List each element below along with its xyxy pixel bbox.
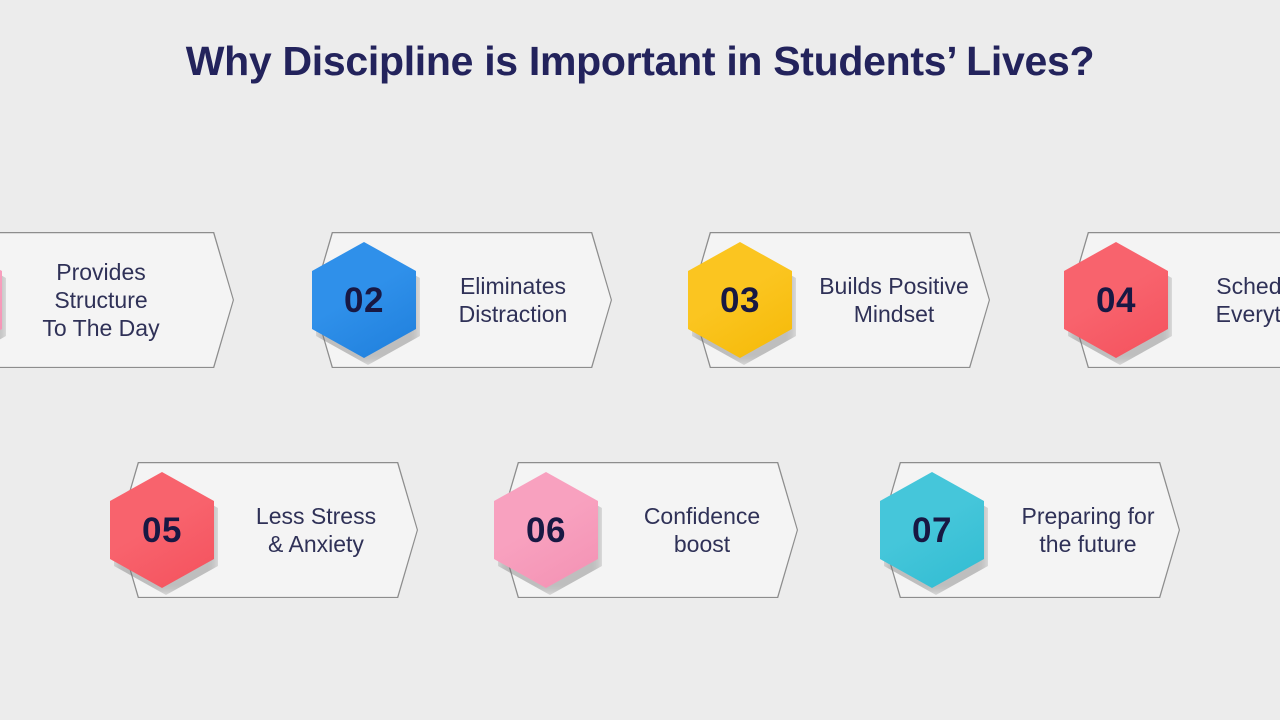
step-label: Schedules Everything [1170, 272, 1280, 328]
step-number: 06 [526, 513, 566, 548]
step-card-2[interactable]: 02 Eliminates Distraction [312, 232, 612, 368]
step-number: 05 [142, 513, 182, 548]
step-card-4[interactable]: 04 Schedules Everything [1068, 232, 1280, 368]
step-number: 04 [1096, 283, 1136, 318]
step-card-3[interactable]: 03 Builds Positive Mindset [690, 232, 990, 368]
step-card-7[interactable]: 07 Preparing for the future [880, 462, 1180, 598]
step-number: 07 [912, 513, 952, 548]
step-badge-5: 05 [110, 472, 214, 588]
page-title: Why Discipline is Important in Students’… [0, 38, 1280, 85]
step-badge-4: 04 [1064, 242, 1168, 358]
step-label: Builds Positive Mindset [794, 272, 994, 328]
step-number: 03 [720, 283, 760, 318]
step-card-5[interactable]: 05 Less Stress & Anxiety [118, 462, 418, 598]
step-label: Provides Structure To The Day [6, 258, 196, 342]
step-label: Eliminates Distraction [418, 272, 608, 328]
step-card-6[interactable]: 06 Confidence boost [498, 462, 798, 598]
step-badge-6: 06 [494, 472, 598, 588]
step-badge-7: 07 [880, 472, 984, 588]
step-badge-1 [0, 242, 2, 358]
step-card-1[interactable]: Provides Structure To The Day [0, 232, 234, 368]
step-number: 02 [344, 283, 384, 318]
hexagon-icon [0, 242, 2, 358]
step-label: Preparing for the future [988, 502, 1188, 558]
infographic-slide: Why Discipline is Important in Students’… [0, 0, 1280, 720]
step-label: Confidence boost [602, 502, 802, 558]
step-badge-3: 03 [688, 242, 792, 358]
step-label: Less Stress & Anxiety [216, 502, 416, 558]
step-badge-2: 02 [312, 242, 416, 358]
